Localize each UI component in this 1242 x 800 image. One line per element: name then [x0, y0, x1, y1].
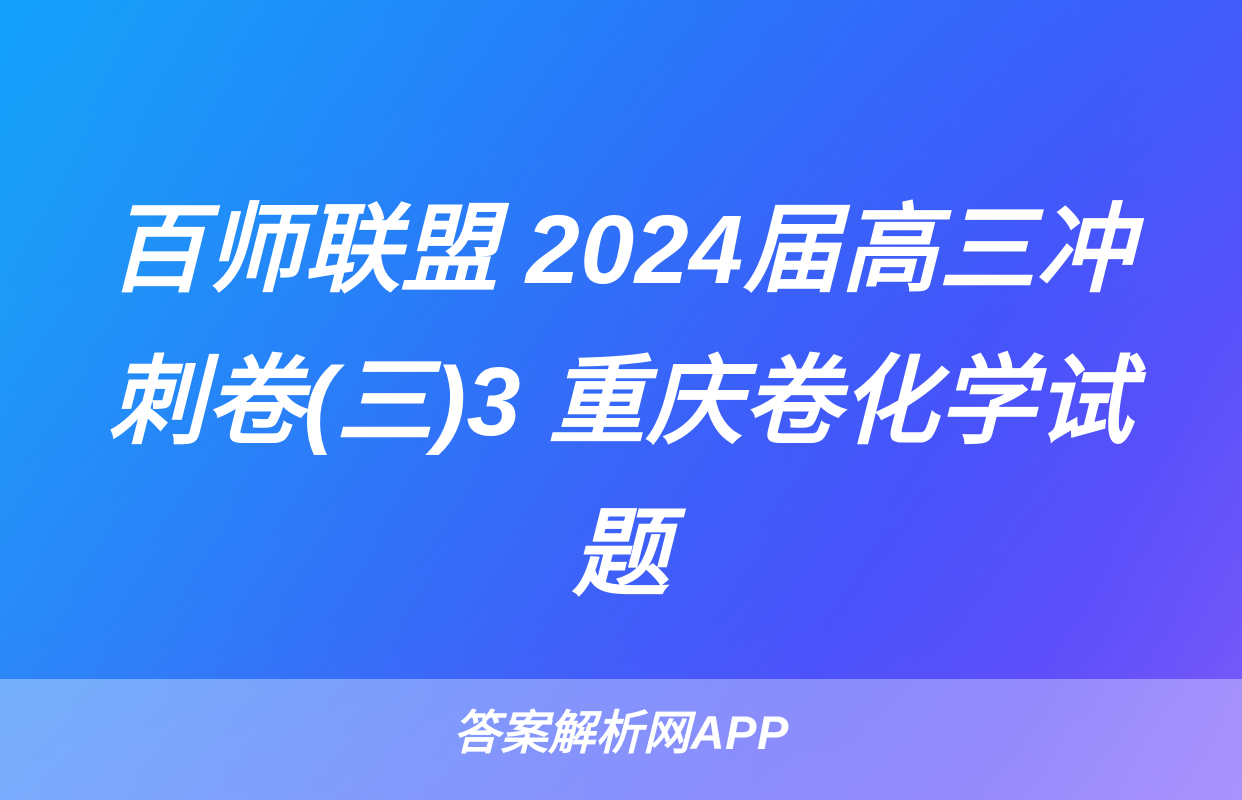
title-line-2: 刺卷(三)3 重庆卷化学试	[64, 326, 1178, 478]
page-title: 百师联盟 2024届高三冲 刺卷(三)3 重庆卷化学试 题	[0, 174, 1242, 630]
title-line-1: 百师联盟 2024届高三冲	[64, 174, 1178, 326]
exam-cover-card: 百师联盟 2024届高三冲 刺卷(三)3 重庆卷化学试 题 答案解析网APP	[0, 0, 1242, 800]
title-line-3: 题	[64, 478, 1178, 630]
watermark-label: 答案解析网APP	[453, 705, 789, 761]
watermark: 答案解析网APP	[0, 705, 1242, 761]
